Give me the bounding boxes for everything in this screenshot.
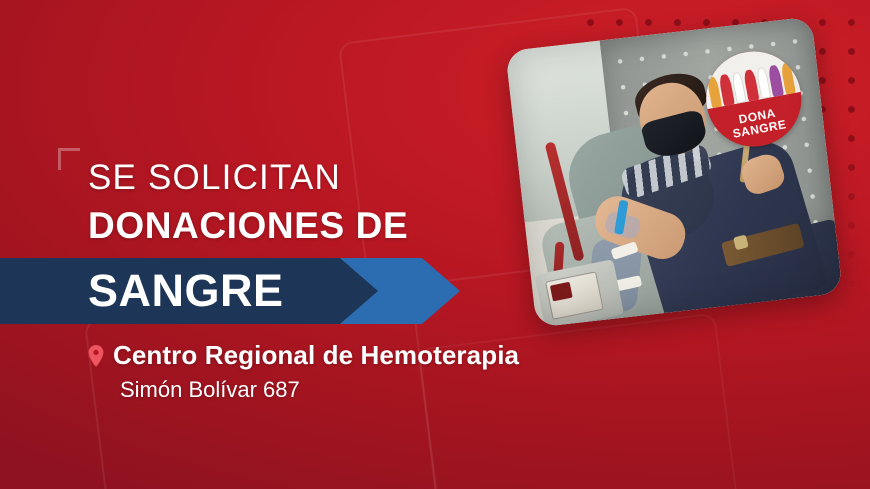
headline-highlight: SANGRE <box>0 258 340 324</box>
location-address-text: Simón Bolívar 687 <box>88 377 608 403</box>
donor-photo: DONA SANGRE <box>505 16 842 327</box>
location-block: Centro Regional de Hemoterapia Simón Bol… <box>88 340 608 403</box>
dona-sangre-sign: DONA SANGRE <box>698 43 809 153</box>
location-name-row: Centro Regional de Hemoterapia <box>88 340 608 371</box>
blood-donation-poster: DONA SANGRE SE SOLICITAN DONACIONES DE S… <box>0 0 870 489</box>
headline-line-2: DONACIONES DE <box>0 207 470 244</box>
location-name-text: Centro Regional de Hemoterapia <box>113 340 519 371</box>
headline-block: SE SOLICITAN DONACIONES DE <box>0 160 470 244</box>
location-pin-icon <box>88 345 104 367</box>
sangre-arrow-band: SANGRE <box>0 258 460 324</box>
donor-photo-card: DONA SANGRE <box>505 16 842 327</box>
headline-line-1: SE SOLICITAN <box>0 160 470 195</box>
